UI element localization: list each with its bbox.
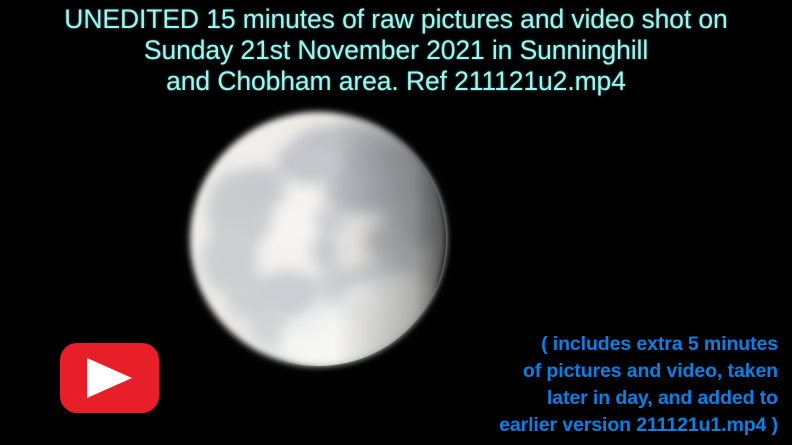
title-line-1: UNEDITED 15 minutes of raw pictures and … bbox=[0, 4, 792, 35]
note-line-4: earlier version 211121u1.mp4 ) bbox=[499, 412, 778, 439]
note-line-2: of pictures and video, taken bbox=[499, 358, 778, 385]
moon-image bbox=[168, 92, 468, 390]
play-video-button[interactable] bbox=[60, 343, 159, 413]
video-thumbnail-canvas: UNEDITED 15 minutes of raw pictures and … bbox=[0, 0, 792, 445]
video-title: UNEDITED 15 minutes of raw pictures and … bbox=[0, 4, 792, 97]
note-line-3: later in day, and added to bbox=[499, 385, 778, 412]
note-line-1: ( includes extra 5 minutes bbox=[499, 331, 778, 358]
title-line-3: and Chobham area. Ref 211121u2.mp4 bbox=[0, 66, 792, 97]
title-line-2: Sunday 21st November 2021 in Sunninghill bbox=[0, 35, 792, 66]
extra-content-note: ( includes extra 5 minutes of pictures a… bbox=[499, 331, 778, 439]
play-triangle-icon bbox=[87, 358, 132, 398]
